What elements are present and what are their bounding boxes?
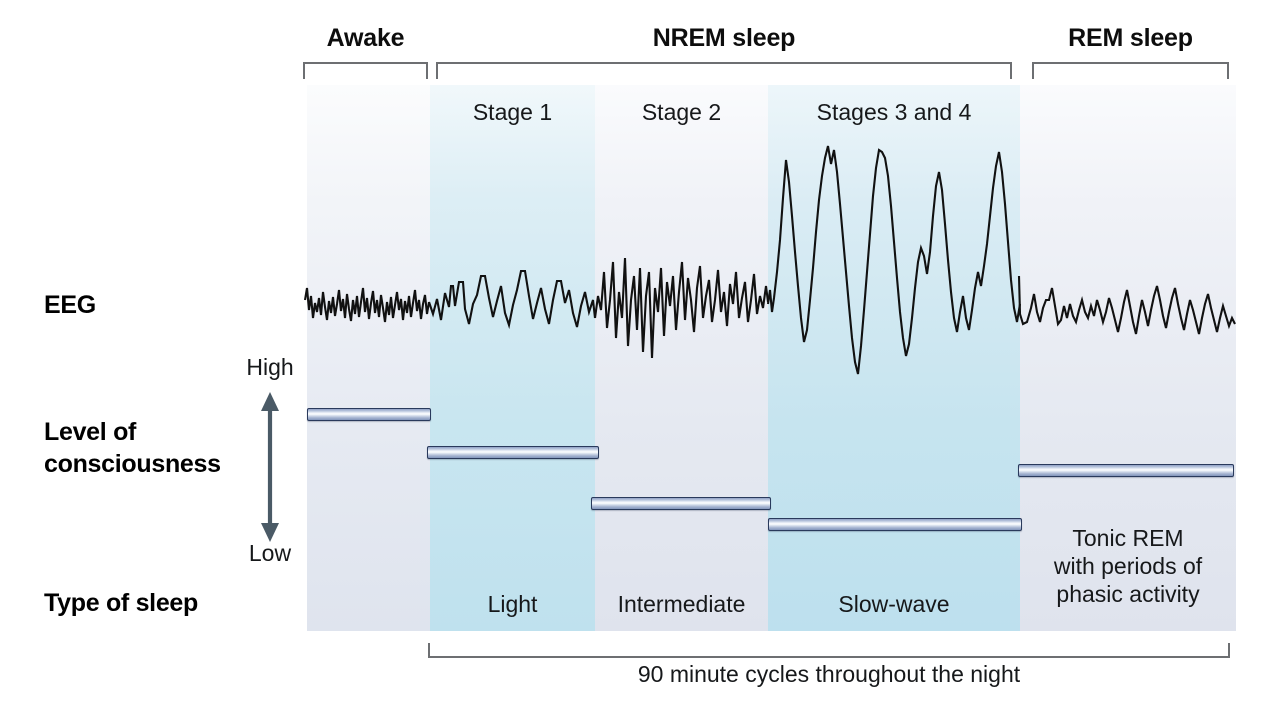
- cycle-caption: 90 minute cycles throughout the night: [428, 661, 1230, 688]
- consciousness-scale-arrow: [252, 392, 288, 542]
- group-title-nrem: NREM sleep: [436, 24, 1012, 53]
- sleep-type-rem: Tonic REM with periods of phasic activit…: [1020, 524, 1236, 608]
- consciousness-bar-rem: [1018, 464, 1234, 477]
- sleep-type-stage-34: Slow-wave: [768, 590, 1020, 618]
- stage-label-stage-34: Stages 3 and 4: [768, 99, 1020, 126]
- row-label-eeg: EEG: [44, 291, 96, 320]
- double-headed-arrow-icon: [252, 392, 288, 542]
- group-title-rem: REM sleep: [1032, 24, 1229, 53]
- column-band-stage-34: [768, 85, 1020, 631]
- group-bracket-awake: [303, 62, 428, 79]
- consciousness-bar-stage-34: [768, 518, 1022, 531]
- group-bracket-nrem: [436, 62, 1012, 79]
- column-band-awake: [307, 85, 430, 631]
- sleep-type-rem-line-3: phasic activity: [1020, 580, 1236, 608]
- consciousness-bar-stage-1: [427, 446, 599, 459]
- sleep-type-rem-line-2: with periods of: [1020, 552, 1236, 580]
- row-label-loc-line-1: Level of: [44, 417, 221, 449]
- column-band-stage-2: [595, 85, 768, 631]
- consciousness-bar-awake: [307, 408, 431, 421]
- stage-label-stage-1: Stage 1: [430, 99, 595, 126]
- row-label-type-of-sleep: Type of sleep: [44, 589, 198, 618]
- cycle-bracket: [428, 643, 1230, 658]
- group-bracket-rem: [1032, 62, 1229, 79]
- row-label-loc-line-2: consciousness: [44, 449, 221, 481]
- column-band-stage-1: [430, 85, 595, 631]
- sleep-type-stage-1: Light: [430, 590, 595, 618]
- row-label-level-of-consciousness: Level of consciousness: [44, 417, 221, 481]
- stage-label-stage-2: Stage 2: [595, 99, 768, 126]
- group-title-awake: Awake: [303, 24, 428, 53]
- sleep-type-stage-2: Intermediate: [595, 590, 768, 618]
- scale-label-low: Low: [225, 540, 315, 567]
- sleep-type-rem-line-1: Tonic REM: [1020, 524, 1236, 552]
- consciousness-bar-stage-2: [591, 497, 771, 510]
- scale-label-high: High: [225, 354, 315, 381]
